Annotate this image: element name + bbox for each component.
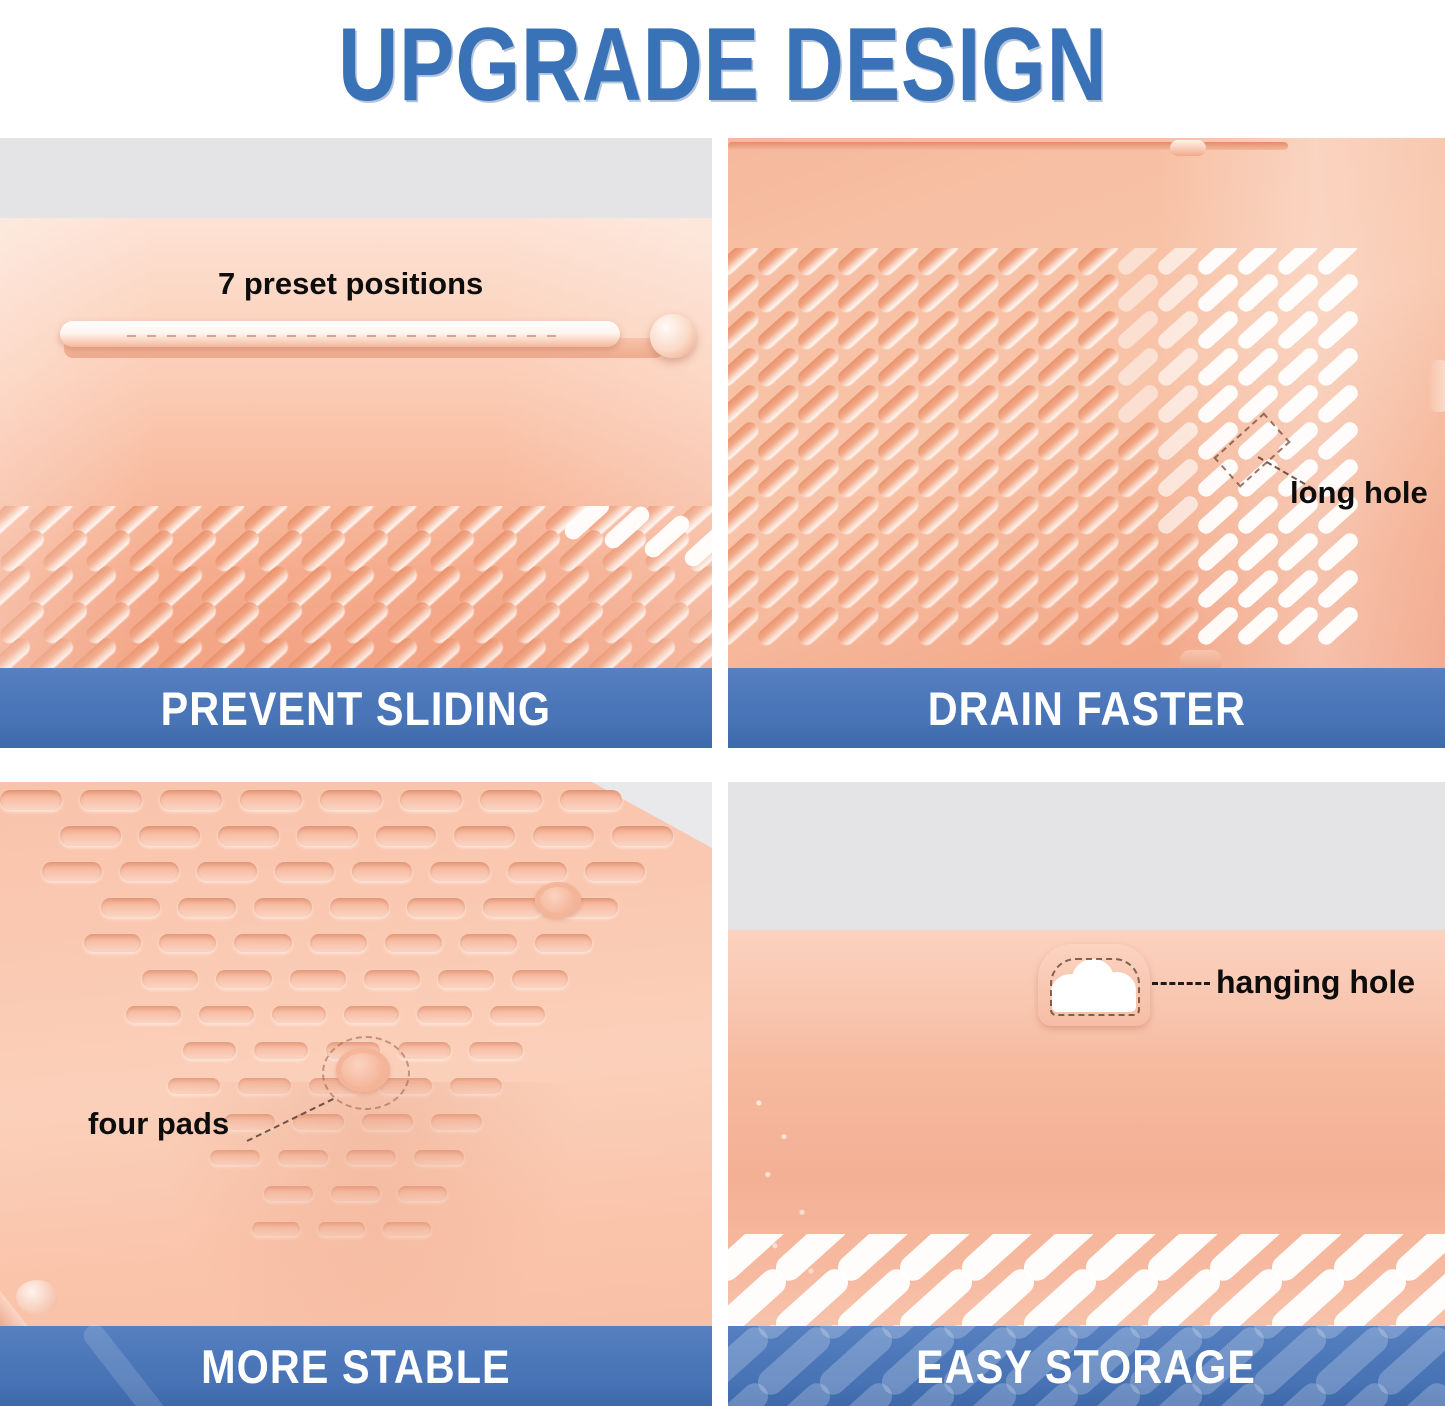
drain-slot [915,493,961,537]
drain-slot [795,382,841,426]
drain-slot [795,308,841,352]
drain-slot [364,970,420,988]
drain-slot [183,1042,237,1059]
callout-label: 7 preset positions [218,266,483,301]
drain-slot [1275,604,1321,648]
hanging-hole [1038,944,1150,1026]
drain-slot [42,862,102,881]
drain-slot [1115,567,1161,611]
caption-label: DRAIN FASTER [927,681,1245,736]
drain-slot [1315,567,1361,611]
drain-slot [995,456,1041,500]
callout-four-pads: four pads [88,1106,229,1142]
drain-slot [168,1078,220,1094]
drain-slot [915,382,961,426]
drain-slot [955,419,1001,463]
drain-slot [875,419,921,463]
drain-slot [240,790,302,810]
drain-slot [728,493,761,537]
drain-slot [1035,567,1081,611]
drain-slot [728,271,761,315]
drain-slot [560,790,622,810]
drain-slot [238,1078,290,1094]
drain-slot [728,419,761,463]
side-handle-nub [1429,360,1445,412]
drain-slot [795,456,841,500]
drain-slot [755,248,801,278]
drain-slot [1075,456,1121,500]
panel-drain-faster: long hole DRAIN FASTER [728,138,1445,748]
drain-slot [1315,271,1361,315]
drain-slot [755,493,801,537]
drain-slot [80,790,142,810]
drain-slot [376,826,437,846]
drain-slot [1115,248,1161,278]
drain-slot [142,970,198,988]
caption-label: EASY STORAGE [917,1339,1257,1394]
drain-slot [1075,248,1121,278]
drain-slot [995,382,1041,426]
drain-slot [1235,604,1281,648]
drain-slot [1155,271,1201,315]
drain-slot [1195,271,1241,315]
drain-slot [915,604,961,648]
drain-slot [352,862,412,881]
drain-slot [875,604,921,648]
drain-slot [875,530,921,574]
drain-slot [264,1186,313,1201]
slider-knob[interactable] [650,314,696,358]
drain-slot [755,567,801,611]
drain-slot [508,862,568,881]
drain-slot [160,790,222,810]
slider-rod[interactable] [60,321,620,347]
drain-slot-grid [728,248,1445,668]
drain-slot [346,1150,396,1165]
drain-slot [1115,604,1161,648]
drain-slot [1235,345,1281,389]
drain-slot [254,898,312,917]
drain-slot [1115,493,1161,537]
drain-slot [362,1114,413,1130]
drain-slot [1115,382,1161,426]
drain-slot [955,493,1001,537]
drain-slot [1315,345,1361,389]
callout-hanging-hole: hanging hole [1216,964,1415,1001]
drain-slot [875,567,921,611]
drain-slot [585,862,645,881]
drain-slot [875,308,921,352]
drain-slot [126,1006,181,1023]
caption-bar-easy-storage: EASY STORAGE [728,1326,1445,1406]
drain-slot [1275,567,1321,611]
folded-rod-knob [16,1280,58,1314]
drain-slot [875,382,921,426]
drain-slot [430,862,490,881]
drain-slot [995,308,1041,352]
drain-slot [955,271,1001,315]
drain-slot [469,1042,523,1059]
drain-slot [139,826,200,846]
callout-label: long hole [1290,475,1428,510]
drain-slot [1315,530,1361,574]
drain-slot [1075,493,1121,537]
drain-slot [1035,493,1081,537]
panel-top-gray-band [728,782,1445,930]
drain-slot [1075,567,1121,611]
drain-slot [414,1150,464,1165]
drain-slot [159,934,216,952]
drain-slot [1315,248,1361,278]
hanging-hole-leader-line [1152,982,1210,985]
drain-slot [197,862,257,881]
drain-slot [795,530,841,574]
drain-slot [995,271,1041,315]
drain-slot [835,456,881,500]
drain-slot [120,862,180,881]
drain-slot [875,493,921,537]
drain-slot [1275,248,1321,278]
drain-slot [915,567,961,611]
callout-long-hole: long hole [1290,475,1428,511]
drain-slot [1155,345,1201,389]
drain-slot [1315,308,1361,352]
drain-slot [755,345,801,389]
drain-slot [512,970,568,988]
drain-slot [995,604,1041,648]
drain-slot [1035,271,1081,315]
four-pads-highlight-circle [322,1036,410,1110]
drain-slot [1235,308,1281,352]
caption-bar-prevent-sliding: PREVENT SLIDING [0,668,712,748]
drain-slot [915,308,961,352]
drain-slot [1155,248,1201,278]
drain-slot [875,345,921,389]
drain-slot [835,419,881,463]
drain-slot [1155,456,1201,500]
drain-slot [1115,456,1161,500]
drain-slot [1195,248,1241,278]
drain-slot [915,271,961,315]
caption-bar-more-stable: MORE STABLE [0,1326,712,1406]
drain-slot [1075,308,1121,352]
drain-slot [1195,345,1241,389]
drain-slot [728,382,761,426]
drain-slot [995,419,1041,463]
drain-slot [835,308,881,352]
drain-slot [1155,382,1201,426]
drain-slot [490,1006,545,1023]
drain-slot [795,493,841,537]
drain-slot [1035,345,1081,389]
drain-slot [535,934,592,952]
panel-top-gray-band [0,138,712,218]
drain-slot [1155,567,1201,611]
drain-slot [533,826,594,846]
drain-slot [995,567,1041,611]
drain-slot [1195,382,1241,426]
drain-slot [385,934,442,952]
drain-slot [1035,604,1081,648]
drain-slot [84,934,141,952]
feature-panel-grid: 7 preset positions PREVENT SLIDING long … [0,138,1445,1406]
drain-slot [218,826,279,846]
drain-slot [178,898,236,917]
drain-slot [755,530,801,574]
drain-slot [252,1222,300,1236]
drain-slot [407,898,465,917]
drain-slot [1075,419,1121,463]
drain-slot [728,345,761,389]
drain-slot [915,456,961,500]
drain-slot [955,456,1001,500]
drain-slot [795,419,841,463]
drain-slot [875,456,921,500]
drain-slot [875,248,921,278]
drain-slot [1235,493,1281,537]
drain-slot [1035,248,1081,278]
drain-slot [272,1006,327,1023]
drain-slot [1155,493,1201,537]
drain-slot [728,248,761,278]
drain-slot [995,248,1041,278]
drain-slot [320,790,382,810]
drain-slot [293,1114,344,1130]
drain-slot [1275,271,1321,315]
drain-slot [480,790,542,810]
drain-slot [755,271,801,315]
drain-slot [1075,382,1121,426]
drain-slot [795,271,841,315]
drain-slot [224,1114,275,1130]
caption-bar-drain-faster: DRAIN FASTER [728,668,1445,748]
drain-slot [1195,567,1241,611]
drain-slot [955,604,1001,648]
drain-slot [438,970,494,988]
drain-slot [310,934,367,952]
drain-slot [1235,271,1281,315]
drain-slot [210,1150,260,1165]
drain-slot [1155,604,1201,648]
drain-slot [1275,530,1321,574]
drain-slot [1195,604,1241,648]
drain-slot [344,1006,399,1023]
drain-slot [755,308,801,352]
drain-slot [835,604,881,648]
drain-slot [795,604,841,648]
drain-slot [331,1186,380,1201]
drain-slot [1035,308,1081,352]
stabilizer-pad [535,882,581,918]
drain-slot [795,567,841,611]
drain-slot [216,970,272,988]
drain-slot [612,826,673,846]
drain-slot [835,382,881,426]
drain-slot [0,790,62,810]
drain-slot [1075,604,1121,648]
drain-slot [318,1222,366,1236]
drain-slot [1195,530,1241,574]
drain-slot [1115,271,1161,315]
callout-preset-positions: 7 preset positions [218,266,483,302]
drain-slot [1075,271,1121,315]
drain-slot [835,248,881,278]
panel-prevent-sliding: 7 preset positions PREVENT SLIDING [0,138,712,748]
drain-slot [1035,382,1081,426]
drain-slot [995,530,1041,574]
hanging-hole-dashed-outline [1050,958,1140,1016]
drain-slot [728,308,761,352]
drain-slot [278,1150,328,1165]
drain-slot [60,826,121,846]
slider-tick-marks [127,335,564,337]
drain-slot [728,530,761,574]
drain-slot [431,1114,482,1130]
drain-slot [199,1006,254,1023]
panel-more-stable: four pads MORE STABLE [0,782,712,1406]
drain-slot [417,1006,472,1023]
drain-slot [995,493,1041,537]
drain-slot [460,934,517,952]
caption-label: MORE STABLE [201,1339,511,1394]
drain-slot [483,898,541,917]
callout-label: four pads [88,1106,229,1141]
drain-slot [1035,419,1081,463]
drain-slot [1235,530,1281,574]
drain-slot [1075,530,1121,574]
drain-slot [915,530,961,574]
rim-notch [1170,140,1206,156]
caption-label: PREVENT SLIDING [161,681,551,736]
drain-slot [728,567,761,611]
drain-slot [1155,419,1201,463]
drain-slot [275,862,335,881]
drain-slot [1115,345,1161,389]
drain-slot [1275,345,1321,389]
drain-slot [101,898,159,917]
drain-slot [1315,604,1361,648]
drain-slot [728,456,761,500]
drain-slot [835,271,881,315]
drain-slot [1275,382,1321,426]
drain-slot [955,308,1001,352]
drain-slot [795,345,841,389]
drain-slot [290,970,346,988]
drain-slot [835,567,881,611]
drain-slot [454,826,515,846]
drain-slot [955,382,1001,426]
drain-slot [398,1186,447,1201]
drain-slot [1115,308,1161,352]
drain-slot [1275,308,1321,352]
drain-slot [835,530,881,574]
drain-slot [955,345,1001,389]
drain-slot [835,493,881,537]
drain-slot [755,419,801,463]
drain-slot [955,248,1001,278]
page-header: UPGRADE DESIGN [0,0,1445,130]
drain-slot [254,1042,308,1059]
drain-slot [955,530,1001,574]
drain-slot [1035,456,1081,500]
drain-slot [1155,308,1201,352]
drain-slot [955,567,1001,611]
drain-slot [1235,567,1281,611]
drain-slot [995,345,1041,389]
drain-slot [297,826,358,846]
drain-slot [875,271,921,315]
callout-label: hanging hole [1216,964,1415,1000]
drain-slot [755,382,801,426]
drain-slot [755,604,801,648]
panel-easy-storage: hanging hole EASY STORAGE [728,782,1445,1406]
drain-slot [1315,382,1361,426]
drain-slot [330,898,388,917]
drain-slot [450,1078,502,1094]
drain-slot [1155,530,1201,574]
page-title: UPGRADE DESIGN [338,13,1107,117]
drain-slot [400,790,462,810]
drain-slot [915,248,961,278]
drain-slot [1235,248,1281,278]
drain-slot [915,419,961,463]
drain-slot [915,345,961,389]
drain-slot [795,248,841,278]
drain-slot [1035,530,1081,574]
drain-slot [1315,419,1361,463]
drain-slot [1195,308,1241,352]
drain-slot [1115,419,1161,463]
drain-slot [1115,530,1161,574]
drain-slot [234,934,291,952]
drain-slot [755,456,801,500]
drain-slot [1075,345,1121,389]
drain-slot [835,345,881,389]
drain-slot [383,1222,431,1236]
drain-slot [728,604,761,648]
drain-slot [1195,493,1241,537]
